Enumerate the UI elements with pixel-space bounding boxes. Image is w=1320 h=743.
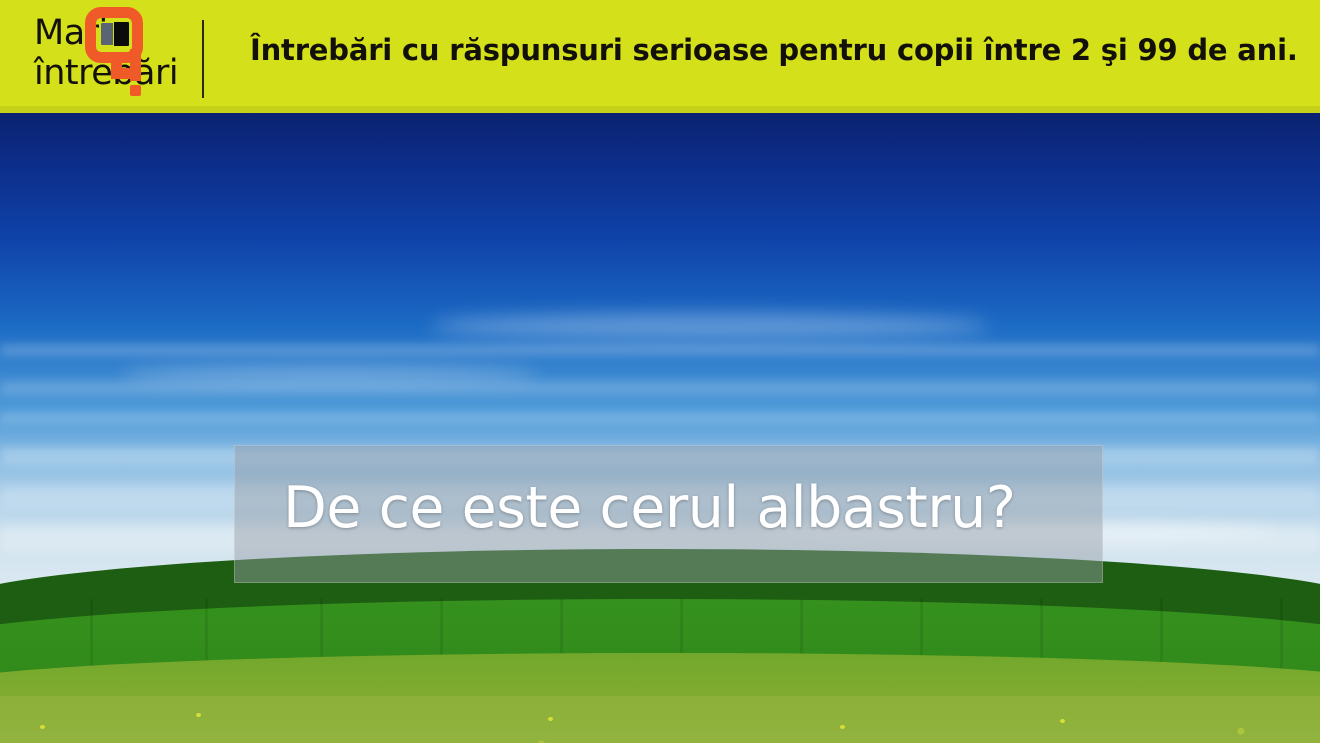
cloud-wisp xyxy=(120,365,540,383)
flower-meadow-texture xyxy=(0,696,1320,743)
header-tagline: Întrebări cu răspunsuri serioase pentru … xyxy=(250,33,1300,67)
header-bar: Mari întrebări Întrebări cu răspunsuri s… xyxy=(0,0,1320,113)
header-divider xyxy=(202,20,204,98)
flower xyxy=(40,725,45,729)
question-mark-dot-shape xyxy=(130,85,141,96)
question-mark-stem-shape xyxy=(111,57,122,73)
cloud-band xyxy=(0,413,1320,422)
slide-canvas: Mari întrebări Întrebări cu răspunsuri s… xyxy=(0,0,1320,743)
header-underline xyxy=(0,106,1320,113)
flower xyxy=(840,725,845,729)
slide-title: De ce este cerul albastru? xyxy=(283,480,1103,537)
cloud-band xyxy=(0,381,1320,395)
cloud-band xyxy=(0,345,1320,355)
book-left-page xyxy=(101,23,113,45)
flower xyxy=(548,717,553,721)
flower xyxy=(196,713,201,717)
book-right-page xyxy=(114,22,129,46)
book-icon xyxy=(101,22,129,46)
question-mark-tail-shape xyxy=(130,64,141,81)
question-mark-book-logo-icon xyxy=(78,2,160,98)
flower xyxy=(1060,719,1065,723)
cloud-wisp xyxy=(430,313,990,339)
background-photo xyxy=(0,113,1320,743)
